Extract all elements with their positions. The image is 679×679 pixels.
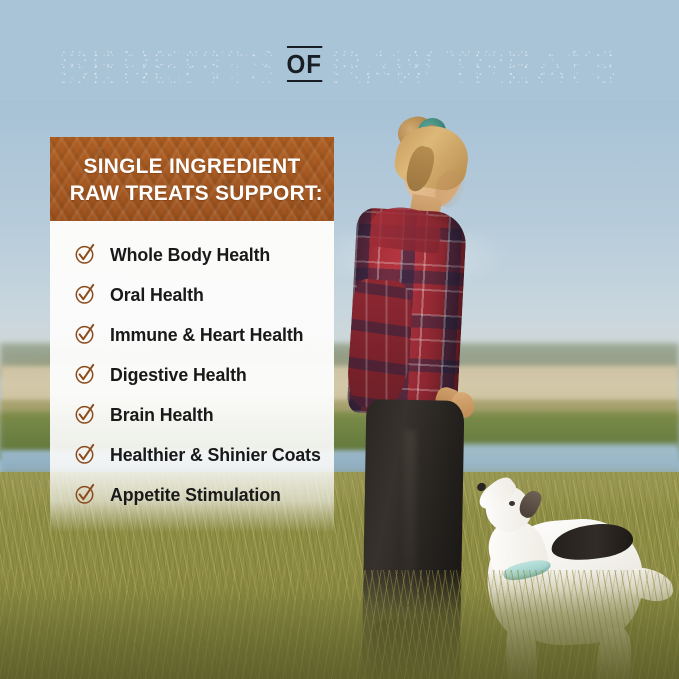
benefit-row: Immune & Heart Health (50, 315, 334, 355)
grass-bottom-shadow (0, 589, 679, 679)
benefit-label: Oral Health (110, 284, 204, 306)
benefit-label: Appetite Stimulation (110, 484, 281, 506)
benefits-card: SINGLE INGREDIENT RAW TREATS SUPPORT: Wh… (50, 137, 334, 532)
check-circle-icon (74, 323, 96, 345)
benefit-label: Digestive Health (110, 364, 247, 386)
benefit-row: Appetite Stimulation (50, 475, 334, 515)
benefit-label: Immune & Heart Health (110, 324, 303, 346)
check-circle-icon (74, 363, 96, 385)
benefit-row: Brain Health (50, 395, 334, 435)
dog-eye (509, 501, 515, 506)
check-circle-icon (74, 403, 96, 425)
card-header-line-2: RAW TREATS SUPPORT: (70, 180, 314, 207)
card-header-line-1: SINGLE INGREDIENT (70, 153, 314, 180)
page-title: BENEFITSOFRAW TREATS (24, 38, 655, 92)
check-circle-icon (74, 483, 96, 505)
benefit-label: Whole Body Health (110, 244, 270, 266)
benefit-row: Digestive Health (50, 355, 334, 395)
benefits-list: Whole Body HealthOral HealthImmune & Hea… (50, 221, 334, 532)
benefit-row: Oral Health (50, 275, 334, 315)
benefit-row: Whole Body Health (50, 235, 334, 275)
check-circle-icon (74, 443, 96, 465)
benefits-card-header: SINGLE INGREDIENT RAW TREATS SUPPORT: (50, 137, 334, 221)
benefit-label: Healthier & Shinier Coats (110, 444, 321, 466)
benefit-label: Brain Health (110, 404, 213, 426)
title-of-word: OF (287, 46, 322, 82)
check-circle-icon (74, 243, 96, 265)
check-circle-icon (74, 283, 96, 305)
infographic-canvas: BENEFITSOFRAW TREATS SINGLE INGREDIENT R… (0, 0, 679, 679)
title-part-one: BENEFITS (58, 42, 278, 92)
title-part-two: RAW TREATS (330, 42, 620, 92)
benefit-row: Healthier & Shinier Coats (50, 435, 334, 475)
